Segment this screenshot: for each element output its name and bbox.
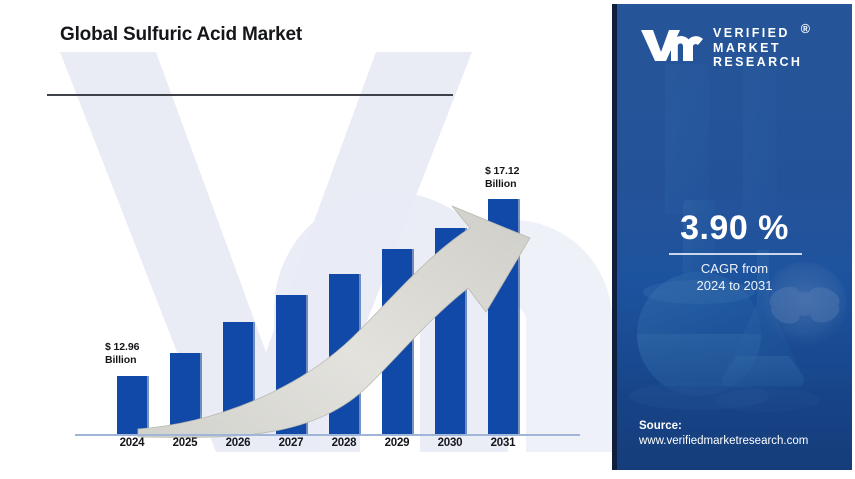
source-label: Source: <box>639 419 808 434</box>
x-tick-2024: 2024 <box>106 437 158 449</box>
x-axis-line <box>75 434 580 436</box>
bar-2025 <box>170 353 200 434</box>
vm-logo-icon <box>641 28 703 67</box>
brand-logo: VERIFIED MARKET RESEARCH ® <box>641 26 802 70</box>
value-label-2024-line1: $ 12.96 <box>105 341 139 354</box>
value-label-2024: $ 12.96 Billion <box>105 341 139 367</box>
brand-name: VERIFIED MARKET RESEARCH ® <box>713 26 802 70</box>
brand-name-line2: MARKET <box>713 41 802 56</box>
bar-2031 <box>488 199 518 434</box>
bar-2027 <box>276 295 306 434</box>
bar-2026 <box>223 322 253 434</box>
value-label-2024-line2: Billion <box>105 354 139 367</box>
infographic-root: Global Sulfuric Acid Market <box>0 0 855 479</box>
brand-name-line3: RESEARCH <box>713 55 802 70</box>
plot-area: 2024 2025 2026 2027 2028 2029 2030 2031 … <box>0 0 612 479</box>
bar-2030 <box>435 228 465 434</box>
x-tick-2026: 2026 <box>212 437 264 449</box>
source-url[interactable]: www.verifiedmarketresearch.com <box>639 434 808 449</box>
registered-trademark-icon: ® <box>801 22 813 37</box>
x-tick-2030: 2030 <box>424 437 476 449</box>
cagr-description-line2: 2024 to 2031 <box>617 277 852 294</box>
x-tick-2029: 2029 <box>371 437 423 449</box>
cagr-description-line1: CAGR from <box>617 260 852 277</box>
value-label-2031: $ 17.12 Billion <box>485 165 519 191</box>
brand-panel: VERIFIED MARKET RESEARCH ® 3.90 % CAGR f… <box>612 4 852 470</box>
value-label-2031-line1: $ 17.12 <box>485 165 519 178</box>
x-tick-2028: 2028 <box>318 437 370 449</box>
value-label-2031-line2: Billion <box>485 178 519 191</box>
brand-name-line1: VERIFIED <box>713 26 802 41</box>
source-credit: Source: www.verifiedmarketresearch.com <box>639 419 808 449</box>
cagr-description: CAGR from 2024 to 2031 <box>617 260 852 294</box>
cagr-value: 3.90 % <box>617 209 852 248</box>
bar-2029 <box>382 249 412 434</box>
chart-panel: Global Sulfuric Acid Market <box>0 0 612 479</box>
x-tick-2025: 2025 <box>159 437 211 449</box>
cagr-divider <box>669 253 802 255</box>
bar-2028 <box>329 274 359 434</box>
bar-2024 <box>117 376 147 434</box>
bar-series <box>0 0 612 479</box>
x-tick-2031: 2031 <box>477 437 529 449</box>
x-tick-2027: 2027 <box>265 437 317 449</box>
